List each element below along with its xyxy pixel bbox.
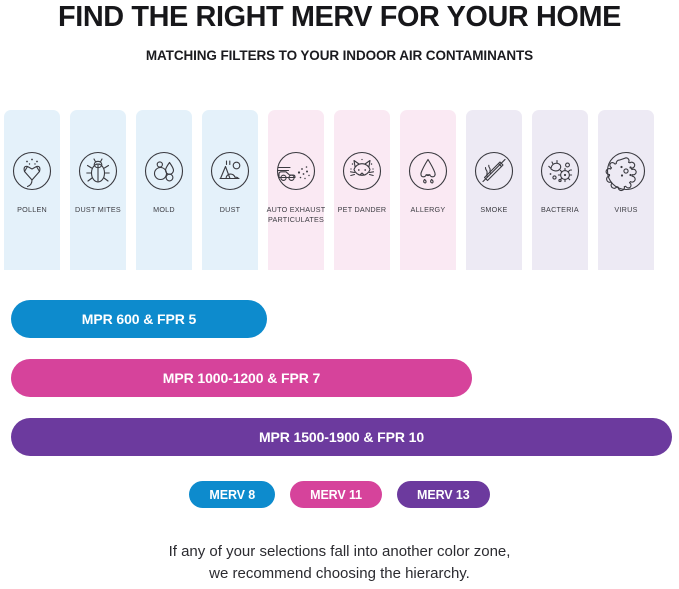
legend-pill-label: MERV 11 xyxy=(310,488,362,502)
contaminant-label: BACTERIA xyxy=(528,205,592,215)
header: FIND THE RIGHT MERV FOR YOUR HOME MATCHI… xyxy=(0,0,679,63)
contaminant-column-pet-dander[interactable]: PET DANDER xyxy=(334,110,390,270)
pet-dander-cat-icon xyxy=(339,148,385,194)
allergy-nose-icon xyxy=(405,148,451,194)
contaminant-column-bacteria[interactable]: BACTERIA xyxy=(532,110,588,270)
bacteria-icon xyxy=(537,148,583,194)
dust-mite-bug-icon xyxy=(75,148,121,194)
smoke-cigarette-icon xyxy=(471,148,517,194)
contaminant-column-dust[interactable]: DUST xyxy=(202,110,258,270)
contaminant-label: POLLEN xyxy=(0,205,64,215)
mpr-bar-label: MPR 600 & FPR 5 xyxy=(82,311,196,327)
contaminant-label: PET DANDER xyxy=(330,205,394,215)
pollen-flower-icon xyxy=(9,148,55,194)
contaminant-column-allergy[interactable]: ALLERGY xyxy=(400,110,456,270)
legend-pill-merv11[interactable]: MERV 11 xyxy=(290,481,382,508)
auto-exhaust-car-icon xyxy=(273,148,319,194)
footer-line-1: If any of your selections fall into anot… xyxy=(0,541,679,563)
contaminant-label: MOLD xyxy=(132,205,196,215)
contaminant-column-mold[interactable]: MOLD xyxy=(136,110,192,270)
contaminant-label: DUST MITES xyxy=(66,205,130,215)
mpr-bar-label: MPR 1500-1900 & FPR 10 xyxy=(259,429,424,445)
contaminant-label: ALLERGY xyxy=(396,205,460,215)
mpr-bar-merv8[interactable]: MPR 600 & FPR 5 xyxy=(11,300,267,338)
dust-cloud-icon xyxy=(207,148,253,194)
contaminant-label: SMOKE xyxy=(462,205,526,215)
legend-pill-label: MERV 13 xyxy=(417,488,470,502)
contaminant-column-virus[interactable]: VIRUS xyxy=(598,110,654,270)
contaminant-column-auto-exhaust[interactable]: AUTO EXHAUSTPARTICULATES xyxy=(268,110,324,270)
legend-pill-label: MERV 8 xyxy=(209,488,255,502)
legend-pill-merv13[interactable]: MERV 13 xyxy=(397,481,490,508)
contaminant-label: AUTO EXHAUSTPARTICULATES xyxy=(264,205,328,224)
contaminant-column-dust-mites[interactable]: DUST MITES xyxy=(70,110,126,270)
mold-spores-icon xyxy=(141,148,187,194)
virus-icon xyxy=(603,148,649,194)
page-subtitle: MATCHING FILTERS TO YOUR INDOOR AIR CONT… xyxy=(0,48,679,63)
mpr-bar-merv13[interactable]: MPR 1500-1900 & FPR 10 xyxy=(11,418,672,456)
contaminant-label: VIRUS xyxy=(594,205,658,215)
footer-line-2: we recommend choosing the hierarchy. xyxy=(0,563,679,585)
footer-note: If any of your selections fall into anot… xyxy=(0,541,679,585)
merv-legend: MERV 8 MERV 11 MERV 13 xyxy=(0,481,679,508)
contaminant-column-pollen[interactable]: POLLEN xyxy=(4,110,60,270)
page-title: FIND THE RIGHT MERV FOR YOUR HOME xyxy=(2,2,678,32)
legend-pill-merv8[interactable]: MERV 8 xyxy=(189,481,275,508)
contaminant-column-smoke[interactable]: SMOKE xyxy=(466,110,522,270)
mpr-bar-merv11[interactable]: MPR 1000-1200 & FPR 7 xyxy=(11,359,472,397)
mpr-bar-label: MPR 1000-1200 & FPR 7 xyxy=(163,370,320,386)
contaminant-columns: POLLEN DUST MITES xyxy=(0,110,679,270)
contaminant-label: DUST xyxy=(198,205,262,215)
